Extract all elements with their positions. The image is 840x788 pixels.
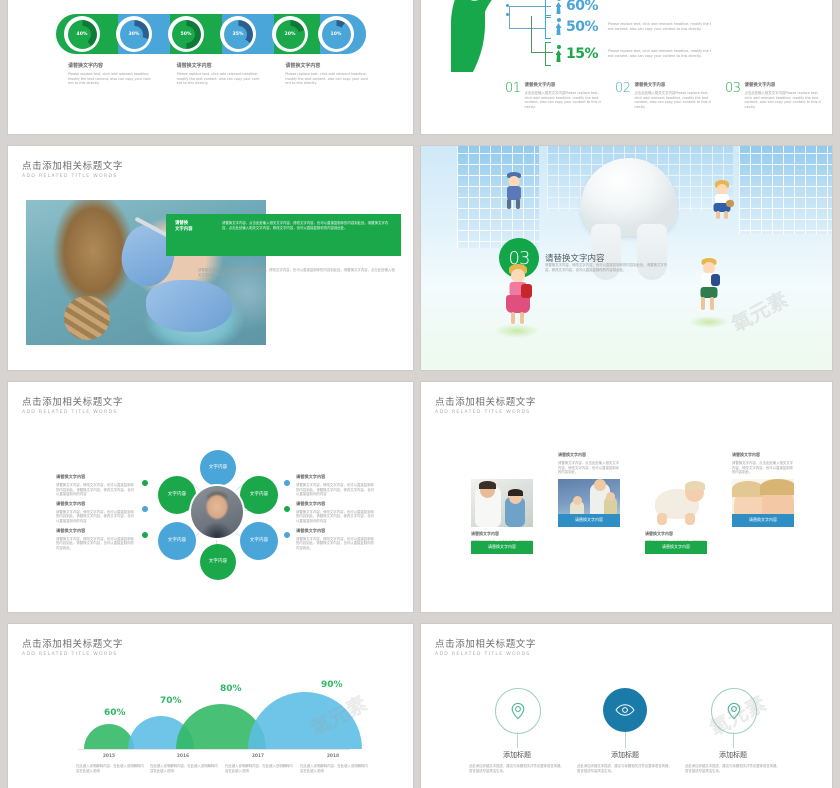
item-number: 03 [725,82,741,109]
pin-circle-1[interactable] [495,688,541,734]
slide3-paragraph: 请替换文字内容，点击此处输入相关文字内容，修改文字内容，也可以直接复制你的内容到… [198,268,398,277]
slide-thumbnail-3[interactable]: 点击添加相关标题文字 ADD RELATED TITLE WORDS 请替换 文… [8,146,413,370]
right-block-heading: 请替换文字内容 [296,501,374,507]
left-block-body: 请替换文字内容，修改文字内容，也可以直接复制你的内容到此。请替换文字内容，修改文… [56,510,134,524]
numbered-item-02: 02 请替换文字内容 点击此处输入相关文字内容Please replace te… [615,82,711,109]
slide-thumbnail-7[interactable]: 点击添加相关标题文字 ADD RELATED TITLE WORDS 60% 7… [8,624,413,788]
left-block-heading: 请替换文字内容 [56,474,134,480]
stat-row-1: 50% Please replace text, click add relev… [545,15,712,39]
location-pin-icon [726,702,742,720]
right-block-heading: 请替换文字内容 [296,528,374,534]
slide3-title-block: 点击添加相关标题文字 ADD RELATED TITLE WORDS [22,158,123,179]
left-block-body: 请替换文字内容，修改文字内容，也可以直接复制你的内容到此。请替换文字内容，也可以… [56,537,134,551]
pin-stem-1 [517,732,518,748]
pin-circle-2[interactable] [603,688,647,732]
floor-glow-1 [495,324,539,338]
donut-value-2: 30% [126,26,143,43]
schoolgirl-cartoon-1 [709,180,735,220]
slide-thumbnail-4[interactable]: 03 请替换文字内容 请替换文字内容，修改文字内容，也可以直接复制你的内容到此处… [421,146,832,370]
desc-text: 此处添加详细文本描述，建议与标题相关并符合整体语言风格，语言描述尽量简洁生动。 [685,764,781,773]
desc-text: 在此键入说明解释内容，在此键入说明解释内容在此键入说明 [150,764,220,773]
item-body: 点击此处输入相关文字内容Please replace text, click a… [525,91,601,109]
caption-block: 请替换文字内容 Please replace text, click add r… [177,62,260,86]
location-pin-icon [510,702,526,720]
bubble-top[interactable]: 文字内容 [200,450,236,486]
category-desc-4: 在此键入说明解释内容，在此键入说明解释内容在此键入说明 [300,764,370,773]
caption-body: Please replace text, click add relevant … [68,72,151,86]
item-number: 01 [505,82,521,109]
donut-value-4: 35% [230,26,247,43]
item-title-1: 添加标题 [462,750,572,760]
slide-thumbnail-1[interactable]: 40% 30% 50% 35% 20% 10% [8,0,413,134]
card-caption: 请替换文字内容 请替换文字内容，点击此处输入相关文字内容，修改文字内容，也可以直… [732,452,794,475]
desc-text: 在此键入说明解释内容，在此键入说明解释内容在此键入说明 [300,764,370,773]
page-subtitle: ADD RELATED TITLE WORDS [435,410,536,415]
female-figure-icon [555,18,562,36]
male-figure-icon [555,45,562,63]
bullet-left-3 [142,532,148,538]
slide1-caption-row: 请替换文字内容 Please replace text, click add r… [68,62,368,86]
right-block-heading: 请替换文字内容 [296,474,374,480]
item-number: 02 [615,82,631,109]
donut-chart-2: 30% [116,16,152,52]
card-body: 请替换文字内容，点击此处输入相关文字内容，修改文字内容，也可以直接复制你的内容到… [558,461,620,475]
page-subtitle: ADD RELATED TITLE WORDS [22,410,123,415]
right-block-body: 请替换文字内容，修改文字内容，也可以直接复制你的内容到此。请替换文字内容，也可以… [296,537,374,551]
card-button[interactable]: 请替换文字内容 [558,514,620,527]
slide-thumbnail-8[interactable]: 点击添加相关标题文字 ADD RELATED TITLE WORDS 添加标题 … [421,624,832,788]
desc-text: 在此键入说明解释内容，在此键入说明解释内容在此键入说明 [225,764,295,773]
page-title: 点击添加相关标题文字 [435,636,536,650]
page-subtitle: ADD RELATED TITLE WORDS [22,652,123,657]
category-label-3: 2017 [223,754,293,759]
right-block-body: 请替换文字内容，修改文字内容，也可以直接复制你的内容到此。请替换文字内容，修改文… [296,483,374,497]
page-title: 点击添加相关标题文字 [435,394,536,408]
item-title-3: 添加标题 [678,750,788,760]
item-heading: 请替换文字内容 [525,82,601,88]
callout-body: 请替换文字内容，点击此处输入相关文字内容，修改文字内容，也可以直接复制你的内容到… [222,221,392,249]
donut-value-3: 50% [178,26,195,43]
section-body: 请替换文字内容，修改文字内容，也可以直接复制你的内容到此处。请替换文字内容，修改… [545,263,669,272]
bullet-right-2 [284,506,290,512]
bullet-right-3 [284,532,290,538]
caption-heading: 请替换文字内容 [285,62,368,69]
item-desc-2: 此处添加详细文本描述，建议与标题相关并符合整体语言风格，语言描述尽量简洁生动。 [577,764,673,773]
item-body: 点击此处输入相关文字内容Please replace text, click a… [635,91,711,109]
category-label-4: 2018 [298,754,368,759]
page-title: 点击添加相关标题文字 [22,636,123,650]
caption-heading: 请替换文字内容 [68,62,151,69]
photo-card-4[interactable]: 请替换文字内容 请替换文字内容，点击此处输入相关文字内容，修改文字内容，也可以直… [732,452,794,527]
donut-chart-6: 10% [318,16,354,52]
bullet-left-1 [142,480,148,486]
card-heading: 请替换文字内容 [471,531,533,537]
female-figure-icon [555,0,562,15]
schoolgirl-cartoon-2 [501,264,535,326]
item-body: 点击此处输入相关文字内容Please replace text, click a… [745,91,821,109]
slide-thumbnail-6[interactable]: 点击添加相关标题文字 ADD RELATED TITLE WORDS 请替换文字… [421,382,832,612]
slide6-title-block: 点击添加相关标题文字 ADD RELATED TITLE WORDS [435,394,536,415]
stat-value-1: 50% [566,19,598,35]
stat-value-2: 15% [566,46,598,62]
numbered-list: 01 请替换文字内容 点击此处输入相关文字内容Please replace te… [505,82,823,109]
card-body: 请替换文字内容，点击此处输入相关文字内容，修改文字内容，也可以直接复制你的内容到… [732,461,794,475]
semicircle-bar-1 [84,724,134,749]
floor-glow-2 [689,316,729,328]
item-title-2: 添加标题 [570,750,680,760]
item-heading: 请替换文字内容 [745,82,821,88]
semicircle-label-1: 60% [104,708,126,718]
connector-line-3 [509,28,545,29]
photo-card-2[interactable]: 请替换文字内容 请替换文字内容，点击此处输入相关文字内容，修改文字内容，也可以直… [558,452,620,527]
pin-circle-3[interactable] [711,688,757,734]
stat-note-2: Please replace text, click add relevant … [608,49,712,58]
pin-stem-3 [733,732,734,748]
page-subtitle: ADD RELATED TITLE WORDS [435,652,536,657]
slide7-title-block: 点击添加相关标题文字 ADD RELATED TITLE WORDS [22,636,123,657]
connector-line-4 [531,16,532,52]
category-label-1: 2015 [74,754,144,759]
desc-text: 此处添加详细文本描述，建议与标题相关并符合整体语言风格，语言描述尽量简洁生动。 [469,764,565,773]
semicircle-bar-4 [248,692,362,749]
photo-card-1[interactable]: 请替换文字内容 请替换文字内容 请替换文字内容，点击此处输入相关文字内容，修改文… [471,479,533,554]
green-callout-box: 请替换 文字内容 请替换文字内容，点击此处输入相关文字内容，修改文字内容，也可以… [166,214,401,256]
connector-line-2 [509,6,510,28]
donut-chart-4: 35% [220,16,256,52]
stat-row-2: 15% Please replace text, click add relev… [545,42,712,66]
numbered-item-03: 03 请替换文字内容 点击此处输入相关文字内容Please replace te… [725,82,821,109]
donut-ribbon-chart: 40% 30% 50% 35% 20% 10% [56,14,366,54]
donut-chart-5: 20% [272,16,308,52]
bubble-upper-right[interactable]: 文字内容 [240,476,278,514]
donut-value-6: 10% [328,26,345,43]
page-title: 点击添加相关标题文字 [22,394,123,408]
slide8-title-block: 点击添加相关标题文字 ADD RELATED TITLE WORDS [435,636,536,657]
caption-body: Please replace text, click add relevant … [285,72,368,86]
card-heading: 请替换文字内容 [732,452,794,458]
semicircle-label-4: 90% [321,680,343,690]
card-button[interactable]: 请替换文字内容 [732,514,794,527]
donut-chart-3: 50% [168,16,204,52]
right-block-body: 请替换文字内容，修改文字内容，也可以直接复制你的内容到此。请替换文字内容，修改文… [296,510,374,524]
slide-thumbnail-2[interactable]: 60% 50% Please replace text, click add r… [421,0,832,134]
schoolboy-cartoon-1 [501,172,527,210]
category-desc-2: 在此键入说明解释内容，在此键入说明解释内容在此键入说明 [150,764,220,773]
stat-note-1: Please replace text, click add relevant … [608,22,712,31]
photo-card-3[interactable]: 请替换文字内容 请替换文字内容 请替换文字内容，点击此处输入相关文字内容，修改文… [645,479,707,554]
semicircle-label-2: 70% [160,696,182,706]
caption-block: 请替换文字内容 Please replace text, click add r… [68,62,151,86]
slide3-paragraph-block: 请替换文字内容，点击此处输入相关文字内容，修改文字内容，也可以直接复制你的内容到… [198,268,398,277]
caption-heading: 请替换文字内容 [177,62,260,69]
card-heading: 请替换文字内容 [645,531,707,537]
chart-baseline [78,749,350,750]
desc-text: 此处添加详细文本描述，建议与标题相关并符合整体语言风格，语言描述尽量简洁生动。 [577,764,673,773]
category-desc-1: 在此键入说明解释内容，在此键入说明解释内容在此键入说明 [76,764,146,773]
card-button[interactable]: 请替换文字内容 [645,541,707,554]
donut-chart-1: 40% [64,16,100,52]
baby-crawling-photo [645,479,707,527]
donut-value-5: 20% [282,26,299,43]
bubble-lower-left[interactable]: 文字内容 [158,522,196,560]
left-block-heading: 请替换文字内容 [56,528,134,534]
card-caption: 请替换文字内容 请替换文字内容，点击此处输入相关文字内容，修改文字内容，也可以直… [558,452,620,475]
donut-value-1: 40% [74,26,91,43]
schoolboy-cartoon-2 [693,258,725,316]
caption-block: 请替换文字内容 Please replace text, click add r… [285,62,368,86]
page-subtitle: ADD RELATED TITLE WORDS [22,174,123,179]
numbered-item-01: 01 请替换文字内容 点击此处输入相关文字内容Please replace te… [505,82,601,109]
left-block-heading: 请替换文字内容 [56,501,134,507]
semicircle-label-3: 80% [220,684,242,694]
item-heading: 请替换文字内容 [635,82,711,88]
pin-stem-2 [625,732,626,748]
item-desc-1: 此处添加详细文本描述，建议与标题相关并符合整体语言风格，语言描述尽量简洁生动。 [469,764,565,773]
right-text-column: 请替换文字内容 请替换文字内容，修改文字内容，也可以直接复制你的内容到此。请替换… [296,474,374,550]
category-desc-3: 在此键入说明解释内容，在此键入说明解释内容在此键入说明 [225,764,295,773]
bubble-bottom[interactable]: 文字内容 [200,544,236,580]
hand-toothbrush-icon [421,0,541,74]
bullet-left-2 [142,506,148,512]
slide-thumbnail-5[interactable]: 点击添加相关标题文字 ADD RELATED TITLE WORDS 文字内容 … [8,382,413,612]
bullet-right-1 [284,480,290,486]
item-desc-3: 此处添加详细文本描述，建议与标题相关并符合整体语言风格，语言描述尽量简洁生动。 [685,764,781,773]
desc-text: 在此键入说明解释内容，在此键入说明解释内容在此键入说明 [76,764,146,773]
callout-label: 请替换 文字内容 [175,221,213,233]
doctor-and-child-photo [471,479,533,527]
page-title: 点击添加相关标题文字 [22,158,123,172]
businessman-portrait-avatar [191,486,243,538]
left-block-body: 请替换文字内容，修改文字内容，也可以直接复制你的内容到此。请替换文字内容，修改文… [56,483,134,497]
caption-body: Please replace text, click add relevant … [177,72,260,86]
card-button[interactable]: 请替换文字内容 [471,541,533,554]
eye-icon [615,704,635,716]
category-label-2: 2016 [148,754,218,759]
window-grid-right [739,146,832,234]
slide-deck-thumbnail-grid: 40% 30% 50% 35% 20% 10% [0,0,840,788]
section-body-block: 请替换文字内容，修改文字内容，也可以直接复制你的内容到此处。请替换文字内容，修改… [545,263,669,272]
left-text-column: 请替换文字内容 请替换文字内容，修改文字内容，也可以直接复制你的内容到此。请替换… [56,474,134,550]
card-heading: 请替换文字内容 [558,452,620,458]
bubble-lower-right[interactable]: 文字内容 [240,522,278,560]
slide5-title-block: 点击添加相关标题文字 ADD RELATED TITLE WORDS [22,394,123,415]
